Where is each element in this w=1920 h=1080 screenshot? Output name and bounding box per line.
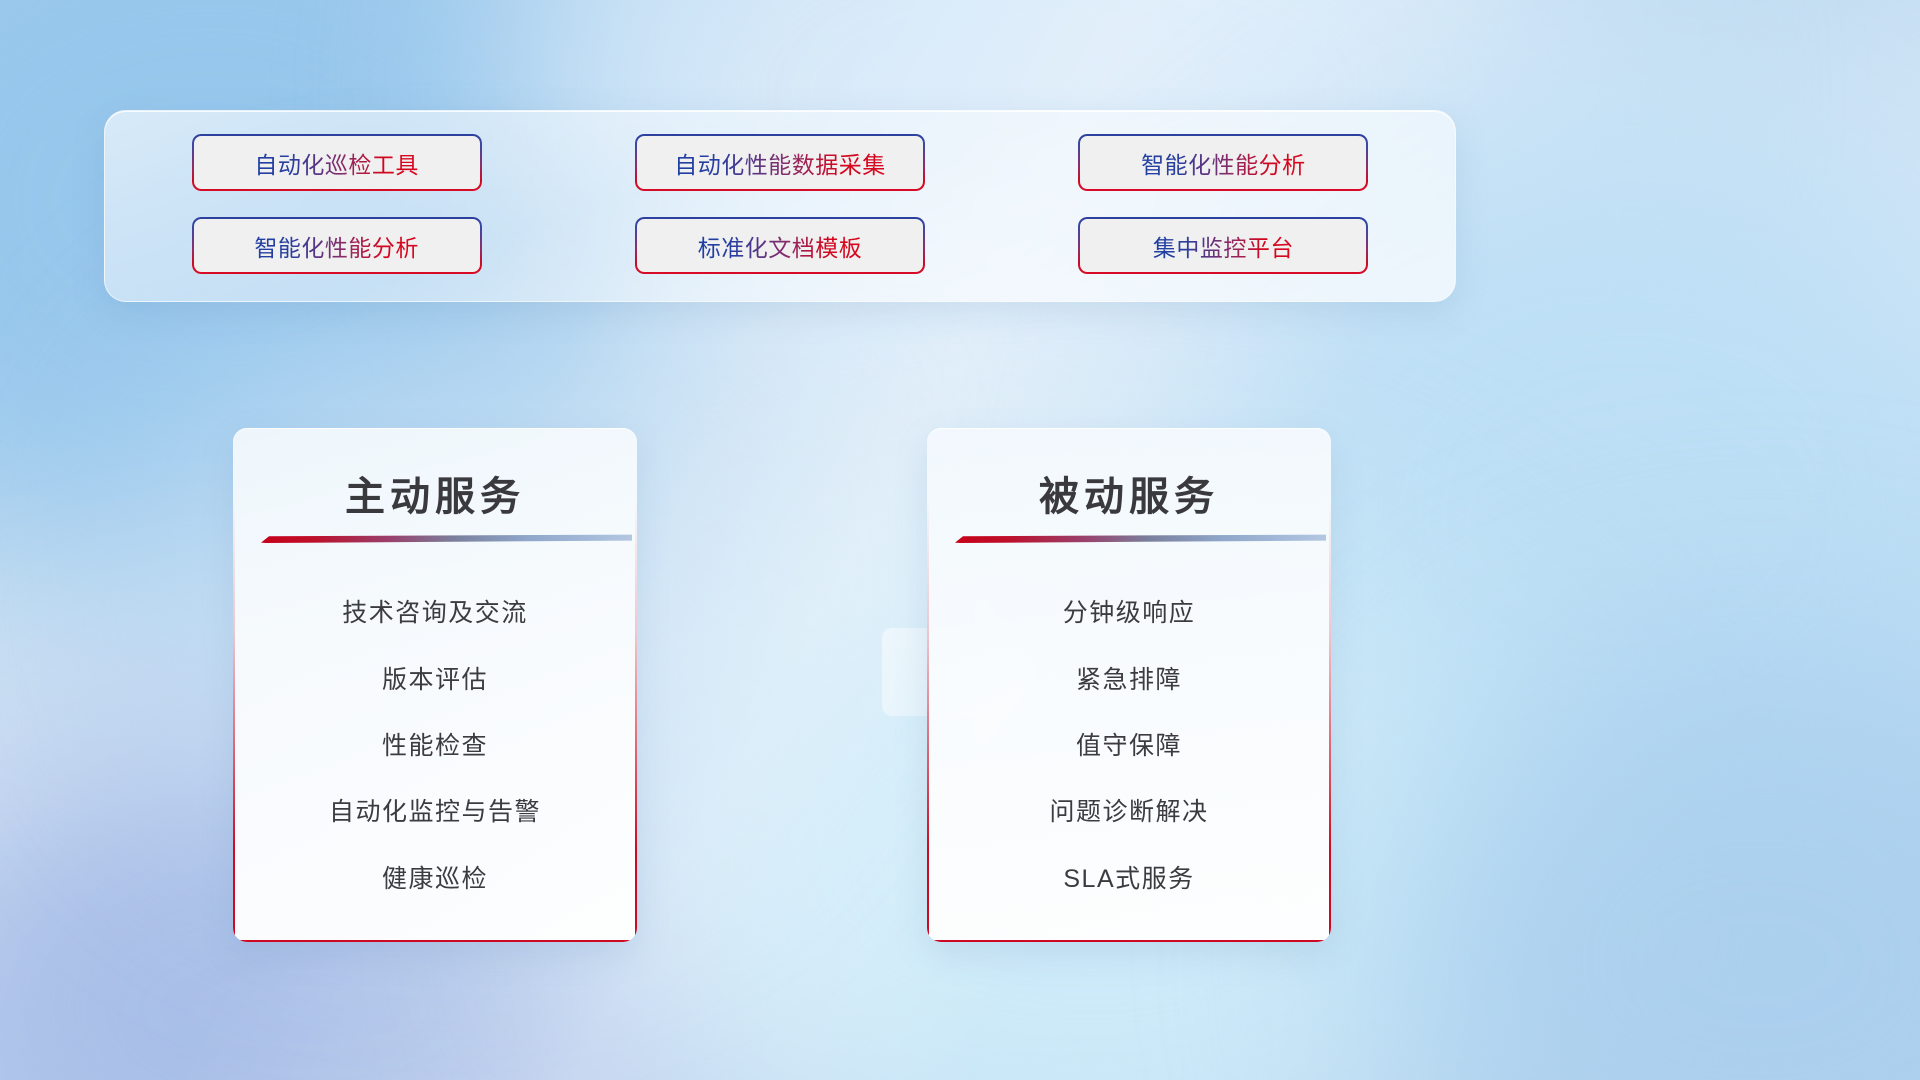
capability-chip[interactable]: 标准化文档模板 — [635, 217, 925, 274]
list-item: 技术咨询及交流 — [342, 593, 528, 629]
list-item: 自动化监控与告警 — [329, 792, 541, 828]
capability-chip[interactable]: 智能化性能分析 — [1078, 134, 1368, 191]
service-card-active: 主动服务 技术咨询及交流 版本评估 性能检查 自动化监控与告警 健康巡检 — [233, 428, 637, 942]
card-title: 主动服务 — [233, 464, 637, 522]
capability-chip[interactable]: 智能化性能分析 — [192, 217, 482, 274]
capability-chip[interactable]: 集中监控平台 — [1078, 217, 1368, 274]
card-bottom-accent — [233, 940, 637, 942]
capability-chip-label: 自动化巡检工具 — [254, 146, 419, 180]
list-item: 紧急排障 — [1076, 660, 1182, 696]
capability-chip-grid: 自动化巡检工具 自动化性能数据采集 智能化性能分析 智能化性能分析 标准化文档模… — [105, 111, 1455, 301]
card-divider — [955, 534, 1326, 543]
capability-chip-label: 智能化性能分析 — [254, 229, 419, 263]
capability-chip[interactable]: 自动化性能数据采集 — [635, 134, 925, 191]
service-item-list: 分钟级响应 紧急排障 值守保障 问题诊断解决 SLA式服务 — [927, 568, 1331, 916]
list-item: 性能检查 — [382, 726, 488, 762]
capability-chip[interactable]: 自动化巡检工具 — [192, 134, 482, 191]
service-card-passive: 被动服务 分钟级响应 紧急排障 值守保障 问题诊断解决 SLA式服务 — [927, 428, 1331, 942]
list-item: 版本评估 — [382, 660, 488, 696]
list-item: 值守保障 — [1076, 726, 1182, 762]
list-item: 分钟级响应 — [1063, 593, 1196, 629]
capability-chip-label: 集中监控平台 — [1153, 229, 1294, 263]
capability-chip-label: 自动化性能数据采集 — [674, 146, 886, 180]
capability-chip-label: 智能化性能分析 — [1141, 146, 1306, 180]
capability-panel: 自动化巡检工具 自动化性能数据采集 智能化性能分析 智能化性能分析 标准化文档模… — [104, 110, 1456, 302]
list-item: 问题诊断解决 — [1049, 792, 1208, 828]
service-item-list: 技术咨询及交流 版本评估 性能检查 自动化监控与告警 健康巡检 — [233, 568, 637, 916]
list-item: SLA式服务 — [1063, 859, 1194, 895]
card-bottom-accent — [927, 940, 1331, 942]
card-divider — [261, 534, 632, 543]
list-item: 健康巡检 — [382, 859, 488, 895]
card-title: 被动服务 — [927, 464, 1331, 522]
capability-chip-label: 标准化文档模板 — [698, 229, 863, 263]
